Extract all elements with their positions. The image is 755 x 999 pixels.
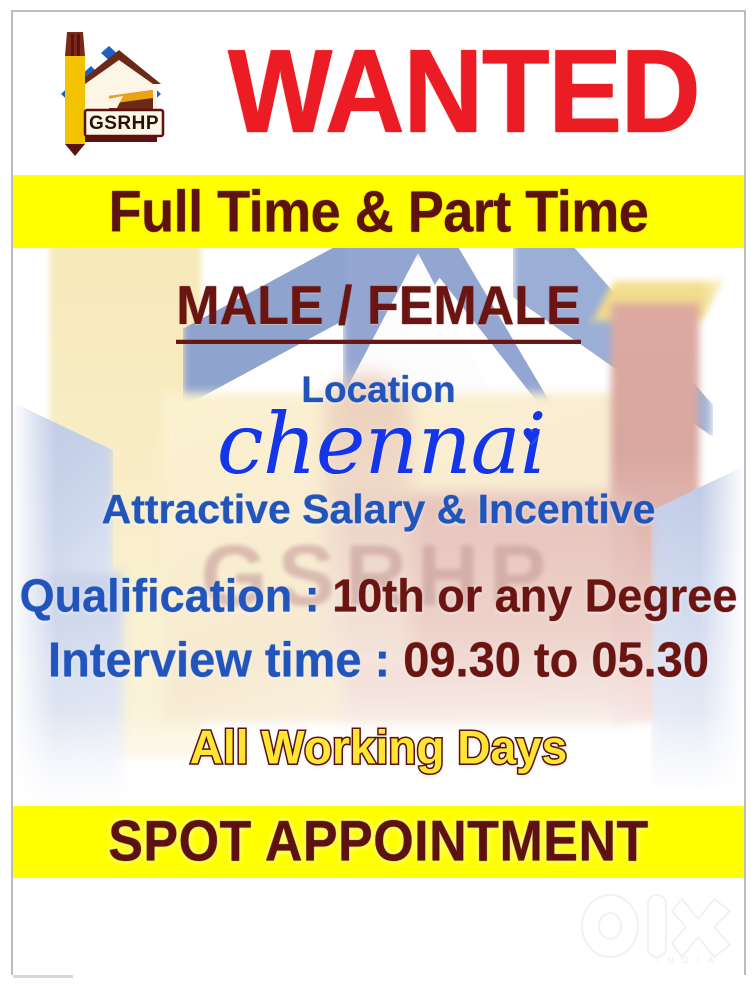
line-qualification: Qualification : 10th or any Degree bbox=[13, 569, 744, 623]
qualification-value: 10th or any Degree bbox=[332, 569, 737, 622]
band-top-text: Full Time & Part Time bbox=[109, 178, 649, 245]
headline-wanted: WANTED bbox=[198, 34, 728, 152]
qualification-label: Qualification : bbox=[20, 569, 333, 622]
frame-edge-bottom bbox=[13, 975, 73, 978]
line-city: chennai♥ bbox=[13, 395, 744, 493]
interview-value: 09.30 to 05.30 bbox=[403, 632, 709, 687]
job-poster: GSRHP bbox=[0, 0, 755, 999]
olx-watermark: I N D I A bbox=[578, 893, 738, 985]
olx-watermark-sub: I N D I A bbox=[656, 955, 717, 965]
frame-edge-top bbox=[11, 10, 746, 12]
line-gender: MALE / FEMALE bbox=[13, 274, 744, 344]
headline-wanted-text: WANTED bbox=[227, 38, 698, 147]
poster-header: GSRHP WANTED bbox=[13, 12, 744, 172]
frame-edge-right bbox=[744, 10, 746, 975]
band-bottom-text: SPOT APPOINTMENT bbox=[108, 809, 649, 875]
band-full-time-part-time: Full Time & Part Time bbox=[13, 175, 744, 248]
heart-icon: ♥ bbox=[522, 425, 541, 450]
city-text: chennai bbox=[217, 395, 546, 493]
salary-text: Attractive Salary & Incentive bbox=[102, 486, 656, 532]
line-working-days: All Working Days bbox=[13, 719, 744, 774]
line-salary: Attractive Salary & Incentive bbox=[13, 486, 744, 533]
interview-label: Interview time : bbox=[48, 632, 403, 687]
frame-edge-left bbox=[11, 10, 13, 975]
svg-text:GSRHP: GSRHP bbox=[89, 113, 159, 134]
line-interview-time: Interview time : 09.30 to 05.30 bbox=[13, 631, 744, 688]
gsrhp-logo-icon: GSRHP bbox=[31, 24, 179, 164]
band-spot-appointment: SPOT APPOINTMENT bbox=[13, 806, 744, 878]
working-days-text: All Working Days bbox=[190, 720, 567, 773]
gender-text: MALE / FEMALE bbox=[176, 274, 580, 344]
